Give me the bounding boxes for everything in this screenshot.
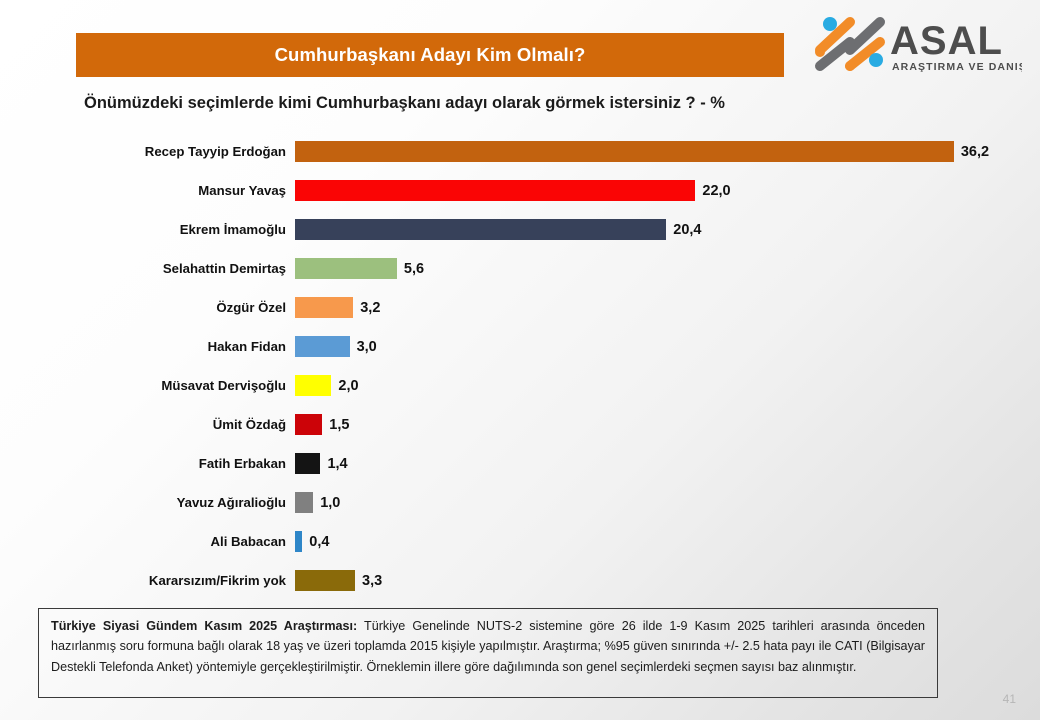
bar-segment[interactable] <box>295 141 954 162</box>
bar-track: 3,3 <box>295 561 1040 600</box>
bar-chart: Recep Tayyip Erdoğan36,2Mansur Yavaş22,0… <box>0 132 1040 600</box>
bar-row: Müsavat Dervişoğlu2,0 <box>0 366 1040 405</box>
bar-row: Ekrem İmamoğlu20,4 <box>0 210 1040 249</box>
bar-segment[interactable] <box>295 375 331 396</box>
bar-row: Yavuz Ağıralioğlu1,0 <box>0 483 1040 522</box>
bar-track: 3,0 <box>295 327 1040 366</box>
bar-track: 3,2 <box>295 288 1040 327</box>
bar-category-label: Özgür Özel <box>0 300 295 315</box>
footnote-box: Türkiye Siyasi Gündem Kasım 2025 Araştır… <box>38 608 938 698</box>
bar-track: 22,0 <box>295 171 1040 210</box>
bar-category-label: Yavuz Ağıralioğlu <box>0 495 295 510</box>
page-number: 41 <box>1003 692 1016 706</box>
bar-value-label: 3,2 <box>353 300 380 316</box>
bar-track: 1,0 <box>295 483 1040 522</box>
bar-track: 5,6 <box>295 249 1040 288</box>
bar-category-label: Kararsızım/Fikrim yok <box>0 573 295 588</box>
bar-row: Ali Babacan0,4 <box>0 522 1040 561</box>
bar-segment[interactable] <box>295 492 313 513</box>
asal-logo: ASAL ARAŞTIRMA VE DANIŞMANLIK <box>806 8 1022 80</box>
bar-segment[interactable] <box>295 453 320 474</box>
bar-category-label: Müsavat Dervişoğlu <box>0 378 295 393</box>
bar-row: Mansur Yavaş22,0 <box>0 171 1040 210</box>
logo-tagline: ARAŞTIRMA VE DANIŞMANLIK <box>892 61 1022 73</box>
bar-value-label: 2,0 <box>331 378 358 394</box>
bar-category-label: Selahattin Demirtaş <box>0 261 295 276</box>
bar-track: 1,5 <box>295 405 1040 444</box>
bar-value-label: 36,2 <box>954 144 989 160</box>
bar-segment[interactable] <box>295 414 322 435</box>
chart-subtitle: Önümüzdeki seçimlerde kimi Cumhurbaşkanı… <box>84 94 725 113</box>
page-title: Cumhurbaşkanı Adayı Kim Olmalı? <box>275 44 586 66</box>
bar-segment[interactable] <box>295 336 350 357</box>
bar-value-label: 1,5 <box>322 417 349 433</box>
bar-row: Özgür Özel3,2 <box>0 288 1040 327</box>
bar-category-label: Mansur Yavaş <box>0 183 295 198</box>
bar-row: Hakan Fidan3,0 <box>0 327 1040 366</box>
logo-wordmark: ASAL <box>890 19 1003 63</box>
bar-track: 36,2 <box>295 132 1040 171</box>
bar-segment[interactable] <box>295 570 355 591</box>
bar-category-label: Ümit Özdağ <box>0 417 295 432</box>
bar-value-label: 22,0 <box>695 183 730 199</box>
bar-value-label: 1,0 <box>313 495 340 511</box>
bar-category-label: Ekrem İmamoğlu <box>0 222 295 237</box>
bar-track: 2,0 <box>295 366 1040 405</box>
bar-value-label: 20,4 <box>666 222 701 238</box>
bar-category-label: Fatih Erbakan <box>0 456 295 471</box>
bar-segment[interactable] <box>295 219 666 240</box>
asal-logo-svg: ASAL ARAŞTIRMA VE DANIŞMANLIK <box>806 8 1022 80</box>
bar-segment[interactable] <box>295 258 397 279</box>
bar-row: Ümit Özdağ1,5 <box>0 405 1040 444</box>
bar-value-label: 3,0 <box>350 339 377 355</box>
bar-row: Kararsızım/Fikrim yok3,3 <box>0 561 1040 600</box>
bar-segment[interactable] <box>295 297 353 318</box>
bar-track: 1,4 <box>295 444 1040 483</box>
bar-category-label: Hakan Fidan <box>0 339 295 354</box>
bar-segment[interactable] <box>295 531 302 552</box>
bar-row: Recep Tayyip Erdoğan36,2 <box>0 132 1040 171</box>
title-bar: Cumhurbaşkanı Adayı Kim Olmalı? <box>76 33 784 77</box>
bar-track: 0,4 <box>295 522 1040 561</box>
bar-category-label: Recep Tayyip Erdoğan <box>0 144 295 159</box>
bar-value-label: 3,3 <box>355 573 382 589</box>
bar-category-label: Ali Babacan <box>0 534 295 549</box>
bar-row: Fatih Erbakan1,4 <box>0 444 1040 483</box>
bar-value-label: 5,6 <box>397 261 424 277</box>
logo-mark <box>815 17 883 71</box>
footnote-lead: Türkiye Siyasi Gündem Kasım 2025 Araştır… <box>51 619 357 633</box>
bar-row: Selahattin Demirtaş5,6 <box>0 249 1040 288</box>
bar-segment[interactable] <box>295 180 695 201</box>
bar-track: 20,4 <box>295 210 1040 249</box>
bar-value-label: 0,4 <box>302 534 329 550</box>
bar-value-label: 1,4 <box>320 456 347 472</box>
